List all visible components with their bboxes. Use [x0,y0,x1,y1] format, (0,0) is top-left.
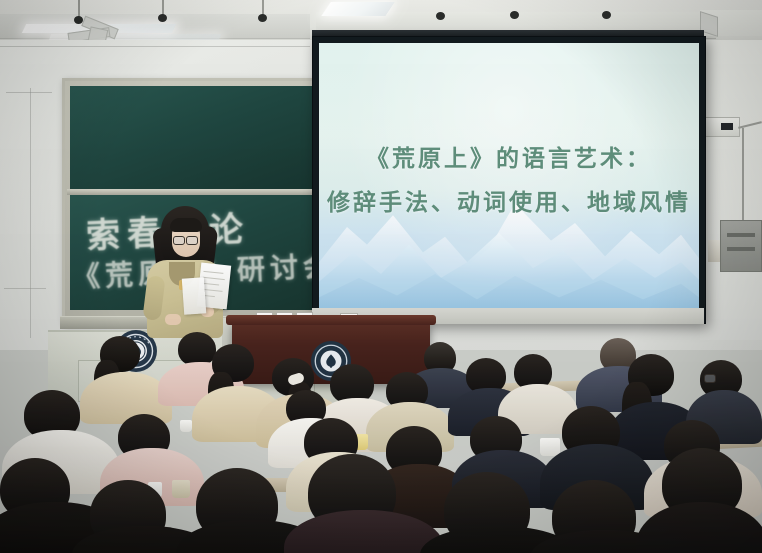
cup-icon [180,420,192,432]
presenter-hand [165,314,181,325]
eyeglasses-icon [173,236,185,245]
fan-mount-icon [158,14,167,22]
wall-seam [0,46,310,47]
slide-title: 《荒原上》的语言艺术： [319,139,699,173]
fan-mount-icon [258,14,267,22]
projection-screen: 《荒原上》的语言艺术： 修辞手法、动词使用、地域风情 [312,36,706,324]
wall-seam [4,288,46,289]
fan-mount-icon [602,11,611,19]
wall-plate[interactable] [720,220,762,272]
blackboard-panel-upper [70,86,316,189]
fan-mount-icon [510,11,519,19]
slide-surface: 《荒原上》的语言艺术： 修辞手法、动词使用、地域风情 [319,43,699,317]
eyeglasses-icon [704,374,716,383]
right-wall [700,40,762,340]
projector-glare [319,43,699,317]
wall-seam [6,92,52,93]
eyeglasses-icon [186,236,198,245]
control-box-display [721,123,733,130]
fan-mount-icon [436,12,445,20]
presenter-hair [170,218,202,232]
audience-head [178,332,216,366]
wall-seam [30,88,31,338]
lectern-ledge [226,315,436,325]
cable [742,128,744,222]
presenter [139,206,229,336]
slide-subtitle: 修辞手法、动词使用、地域风情 [319,183,699,217]
cup-icon [172,480,190,498]
classroom-photograph: 索春讨论 《荒原上》研讨会 [0,0,762,553]
fluorescent-light-icon [321,2,394,16]
audience [0,330,762,553]
control-box[interactable] [700,117,740,137]
handheld-papers [182,277,206,314]
